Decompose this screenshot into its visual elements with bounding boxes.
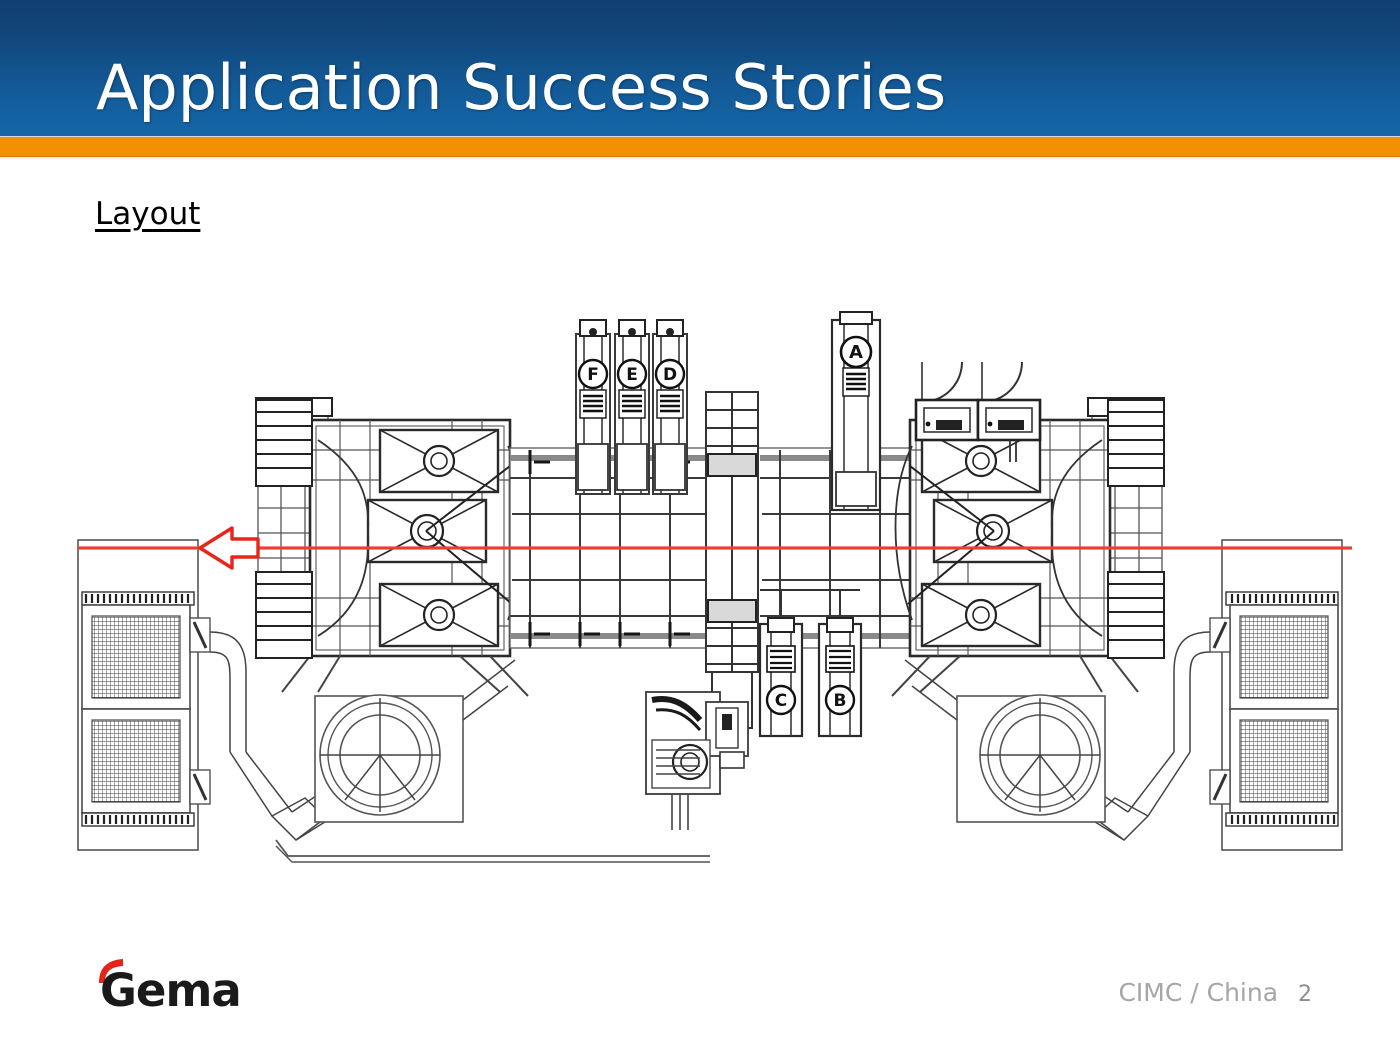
layout-drawing: F E D A [60, 300, 1360, 880]
footer-meta: CIMC / China 2 [1118, 978, 1312, 1007]
powder-center-column-A: A [832, 312, 880, 510]
gema-wordmark: Gema [100, 964, 241, 1017]
slide-page-number: 2 [1298, 982, 1312, 1007]
page-title: Application Success Stories [96, 52, 946, 124]
balloon-label-E: E [626, 365, 638, 385]
header-rule-shadow [0, 156, 1400, 160]
balloon-label-B: B [834, 691, 847, 711]
section-label-layout: Layout [95, 196, 200, 232]
balloon-label-A: A [849, 342, 863, 363]
cad-layout-svg: F E D A [60, 300, 1360, 880]
gema-logo: Gema [88, 958, 223, 1016]
powder-center-columns-left: F E D [576, 320, 687, 494]
slide-header-band: Application Success Stories [0, 0, 1400, 136]
balloon-label-F: F [587, 365, 599, 385]
footer-customer: CIMC / China [1118, 978, 1278, 1007]
conveyor-direction-arrow [200, 528, 258, 568]
duct-cyclone-left [210, 632, 710, 862]
control-cabinet-center [646, 692, 748, 830]
header-accent-rule [0, 136, 1400, 157]
filter-bank-left [78, 540, 210, 850]
balloon-label-D: D [663, 365, 677, 385]
filter-bank-right [1210, 540, 1342, 850]
balloon-label-C: C [775, 691, 787, 711]
